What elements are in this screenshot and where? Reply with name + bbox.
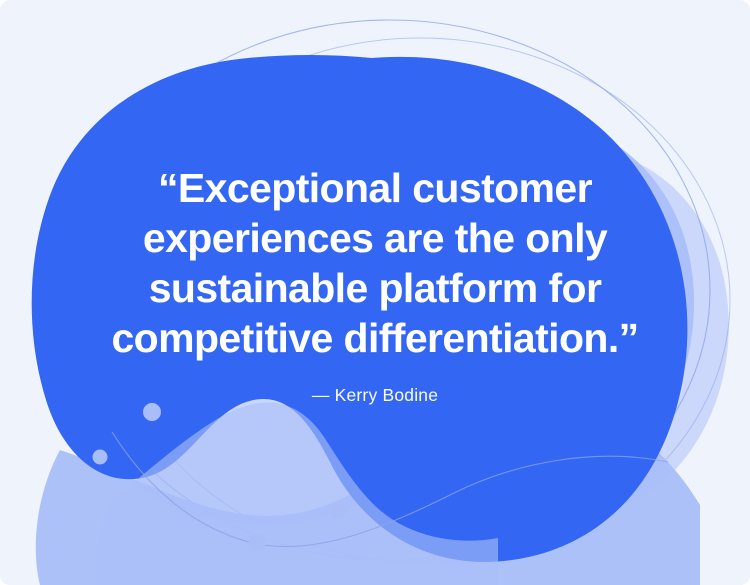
quote-card: “Exceptional customer experiences are th… [0,0,750,585]
decor-dot-1 [143,403,161,421]
decorative-background-art [0,0,750,585]
decor-dot-2 [93,450,108,465]
decor-dot-4 [249,535,266,552]
decor-dot-3 [330,503,346,519]
